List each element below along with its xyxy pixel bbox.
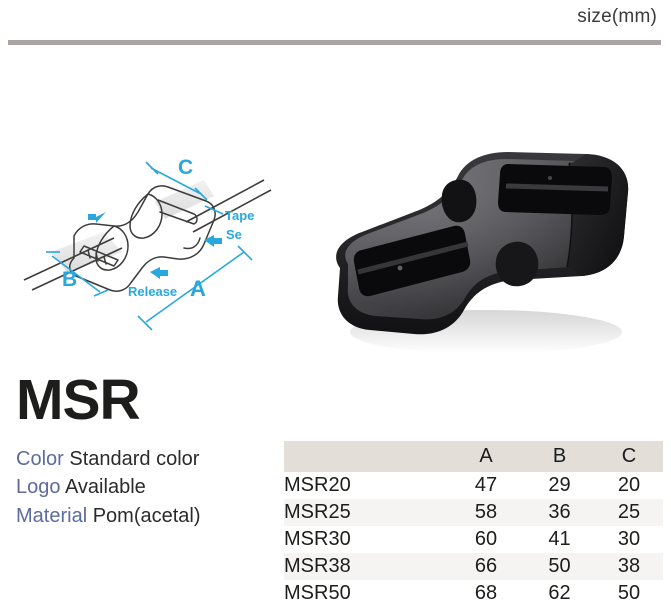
cell-a: 47 [448, 472, 524, 499]
table-row: MSR20 47 29 20 [284, 472, 663, 499]
product-info-block: MSR Color Standard color Logo Available … [16, 372, 276, 530]
spec-key-color: Color [16, 448, 64, 470]
diagram-label-release: Release [128, 284, 177, 299]
cell-c: 20 [595, 472, 663, 499]
cell-model: MSR20 [284, 472, 448, 499]
diagram-label-b: B [62, 268, 77, 291]
spec-key-logo: Logo [16, 476, 61, 498]
spec-row-color: Color Standard color [16, 445, 276, 473]
spec-list: Color Standard color Logo Available Mate… [16, 445, 276, 530]
column-header-a: A [448, 441, 524, 472]
size-unit-label: size(mm) [577, 6, 657, 28]
diagram-label-c: C [178, 156, 193, 179]
cell-b: 41 [524, 526, 595, 553]
webbing-bar-right [506, 186, 608, 189]
spec-row-logo: Logo Available [16, 473, 276, 501]
spec-row-material: Material Pom(acetal) [16, 502, 276, 530]
release-lever-lower [496, 242, 539, 287]
column-header-model [284, 441, 448, 472]
cell-c: 25 [595, 499, 663, 526]
diagram-label-tape: Tape [225, 208, 254, 223]
cell-b: 36 [524, 499, 595, 526]
spec-value-color: Standard color [69, 448, 199, 470]
table-header-row: A B C [284, 441, 663, 472]
webbing-shapes [51, 180, 214, 273]
cell-model: MSR25 [284, 499, 448, 526]
size-table-body: MSR20 47 29 20 MSR25 58 36 25 MSR30 60 4… [284, 472, 663, 607]
table-row: MSR25 58 36 25 [284, 499, 663, 526]
cell-c: 30 [595, 526, 663, 553]
cell-a: 66 [448, 553, 524, 580]
table-row: MSR38 66 50 38 [284, 553, 663, 580]
technical-diagram: C Tape Se Release B [18, 140, 288, 360]
cell-model: MSR30 [284, 526, 448, 553]
column-header-c: C [595, 441, 663, 472]
spec-key-material: Material [16, 505, 87, 527]
column-header-b: B [524, 441, 595, 472]
cell-a: 58 [448, 499, 524, 526]
spec-value-logo: Available [65, 476, 146, 498]
engage-arrow [88, 212, 106, 223]
table-row: MSR30 60 41 30 [284, 526, 663, 553]
page-title: MSR [16, 372, 276, 429]
cell-c: 38 [595, 553, 663, 580]
size-table-header: A B C [284, 441, 663, 472]
size-table: A B C MSR20 47 29 20 MSR25 58 36 25 MSR3… [284, 441, 663, 607]
cell-b: 50 [524, 553, 595, 580]
header-divider [8, 40, 661, 45]
diagram-label-a: A [190, 276, 206, 301]
specular-dot-2 [548, 176, 552, 180]
cell-a: 60 [448, 526, 524, 553]
diagram-label-se: Se [226, 227, 242, 242]
cell-b: 29 [524, 472, 595, 499]
spec-value-material: Pom(acetal) [93, 505, 201, 527]
release-arrow [150, 267, 168, 279]
specular-dot-1 [398, 266, 403, 271]
page-header: size(mm) [0, 0, 671, 46]
product-photo [318, 120, 658, 375]
cell-model: MSR38 [284, 553, 448, 580]
